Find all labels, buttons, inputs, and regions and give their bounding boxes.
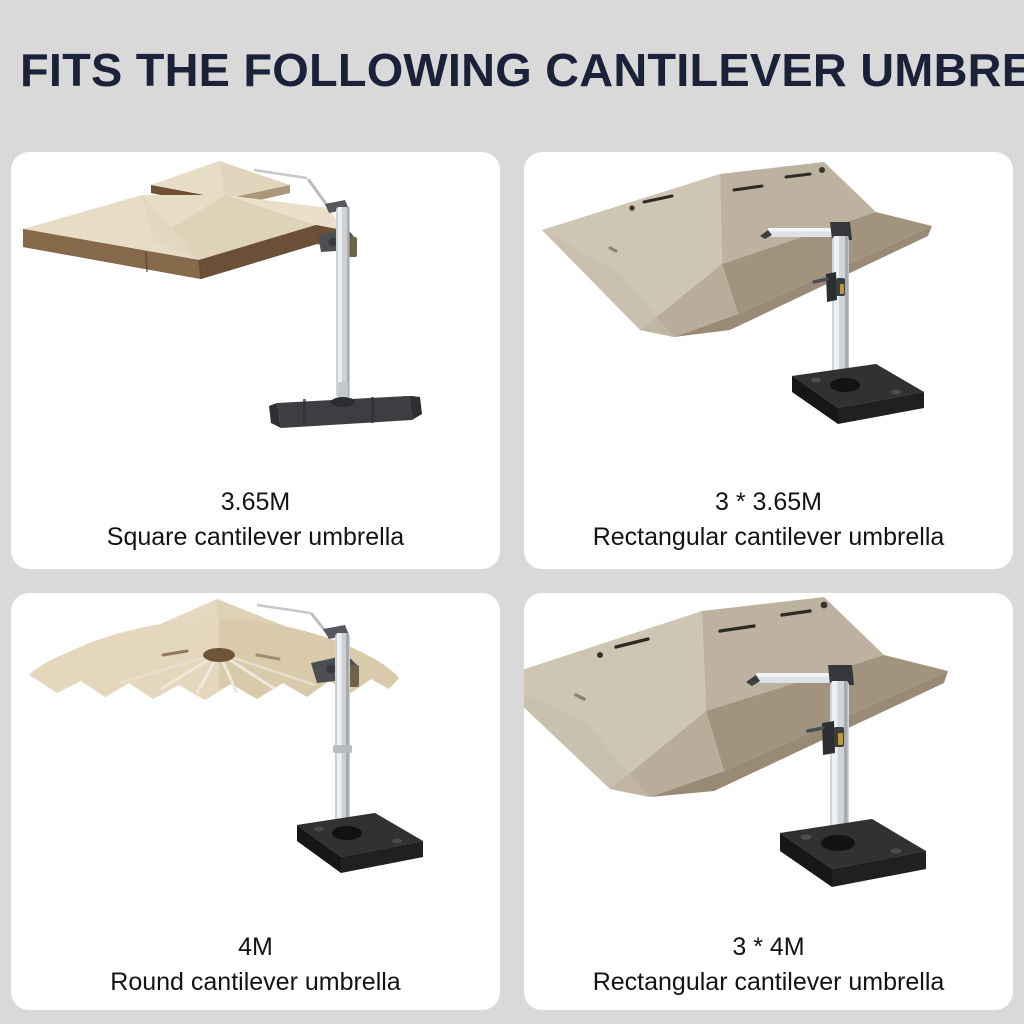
card-caption: 3 * 4M Rectangular cantilever umbrella [524,930,1013,1000]
rectangular-cantilever-umbrella-illustration [524,593,1013,903]
umbrella-image-rectangular-small [524,152,1013,462]
card-caption: 3.65M Square cantilever umbrella [11,485,500,555]
umbrella-card-round-4[interactable]: 4M Round cantilever umbrella [11,593,500,1010]
umbrella-image-rectangular-large [524,593,1013,903]
umbrella-card-square-365[interactable]: 3.65M Square cantilever umbrella [11,152,500,569]
card-size-label: 3 * 4M [524,930,1013,964]
page-title: FITS THE FOLLOWING CANTILEVER UMBRELLAS [20,44,1024,96]
card-size-label: 3 * 3.65M [524,485,1013,519]
round-cantilever-umbrella-illustration [11,593,500,903]
umbrella-image-round [11,593,500,903]
infographic-page: FITS THE FOLLOWING CANTILEVER UMBRELLAS [0,0,1024,1024]
umbrella-card-rect-3-365[interactable]: 3 * 3.65M Rectangular cantilever umbrell… [524,152,1013,569]
card-caption: 3 * 3.65M Rectangular cantilever umbrell… [524,485,1013,555]
card-type-label: Rectangular cantilever umbrella [524,964,1013,1000]
rectangular-cantilever-umbrella-illustration [524,152,1013,462]
card-type-label: Square cantilever umbrella [11,519,500,555]
card-caption: 4M Round cantilever umbrella [11,930,500,1000]
umbrella-image-square [11,152,500,462]
card-size-label: 4M [11,930,500,964]
square-cantilever-umbrella-illustration [11,152,500,462]
card-type-label: Rectangular cantilever umbrella [524,519,1013,555]
card-type-label: Round cantilever umbrella [11,964,500,1000]
card-size-label: 3.65M [11,485,500,519]
umbrella-card-rect-3-4[interactable]: 3 * 4M Rectangular cantilever umbrella [524,593,1013,1010]
umbrella-card-grid: 3.65M Square cantilever umbrella [11,152,1013,1010]
